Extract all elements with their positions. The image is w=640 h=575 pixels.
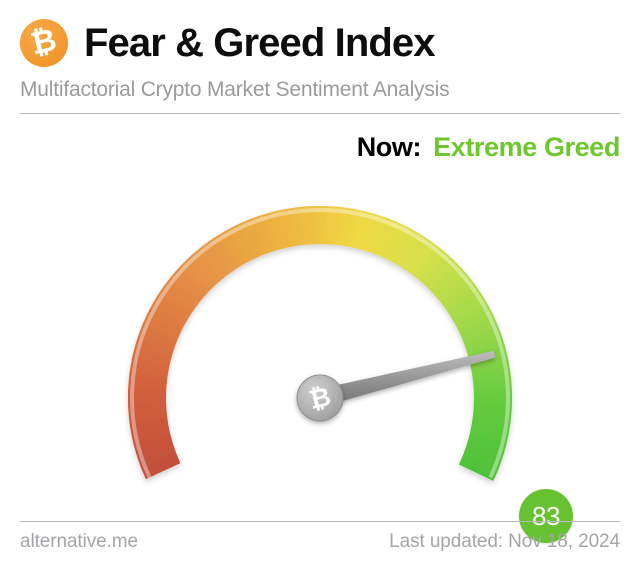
gauge-arc: [128, 206, 512, 481]
header: ₿ Fear & Greed Index Multifactorial Cryp…: [0, 0, 640, 114]
bitcoin-icon: ₿: [20, 19, 68, 67]
now-label: Now:: [357, 132, 421, 163]
current-status: Now: Extreme Greed: [357, 132, 620, 163]
last-updated-label: Last updated: Nov 18, 2024: [389, 531, 620, 553]
value-badge-number: 83: [532, 503, 560, 529]
divider-top: [20, 113, 620, 114]
page-subtitle: Multifactorial Crypto Market Sentiment A…: [20, 78, 449, 102]
source-label: alternative.me: [20, 531, 138, 553]
page-title: Fear & Greed Index: [84, 23, 435, 63]
gauge-hub: ₿: [297, 375, 343, 421]
gauge-svg: ₿: [0, 175, 640, 510]
divider-bottom: [20, 521, 620, 522]
footer: alternative.me Last updated: Nov 18, 202…: [20, 531, 620, 553]
gauge: ₿ 83: [0, 175, 640, 510]
bitcoin-glyph: ₿: [28, 24, 60, 60]
brand-row: ₿ Fear & Greed Index: [20, 16, 435, 70]
status-badge: Extreme Greed: [433, 132, 620, 163]
